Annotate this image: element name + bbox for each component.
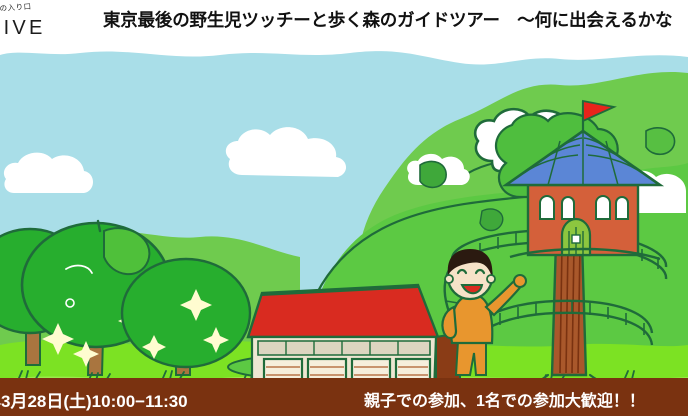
- leaf-3: [480, 209, 503, 231]
- leaf-1: [420, 161, 446, 187]
- boy-legs: [456, 341, 486, 375]
- logo-subtitle: の入り口: [0, 1, 32, 14]
- red-roof-building: [228, 285, 460, 393]
- door-window: [572, 235, 580, 243]
- boy-body: [451, 295, 492, 343]
- boy-ear-left: [445, 275, 453, 283]
- tree-canopy-2: [122, 259, 250, 367]
- site-logo[interactable]: の入り口 DIVE: [0, 2, 72, 44]
- leaf-2: [646, 128, 675, 154]
- event-info-bar: 年3月28日(土)10:00−11:30 親子での参加、1名での参加大歓迎！！: [0, 378, 688, 416]
- hero-illustration: [0, 45, 688, 416]
- page-header: の入り口 DIVE 東京最後の野生児ツッチーと歩く森のガイドツアー 〜何に出会え…: [0, 0, 688, 48]
- event-participation-note: 親子での参加、1名での参加大歓迎！！: [364, 387, 645, 411]
- boy-ear-right: [487, 275, 495, 283]
- page-title: 東京最後の野生児ツッチーと歩く森のガイドツアー 〜何に出会えるかな: [103, 7, 688, 32]
- event-date-time: 年3月28日(土)10:00−11:30: [0, 387, 188, 412]
- boy-hand-raised: [514, 275, 526, 287]
- building-roof: [248, 285, 438, 337]
- logo-wordmark: DIVE: [0, 17, 45, 40]
- building-transom: [258, 341, 430, 355]
- treehouse-trunk: [552, 241, 586, 375]
- promo-banner: の入り口 DIVE 東京最後の野生児ツッチーと歩く森のガイドツアー 〜何に出会え…: [0, 0, 688, 416]
